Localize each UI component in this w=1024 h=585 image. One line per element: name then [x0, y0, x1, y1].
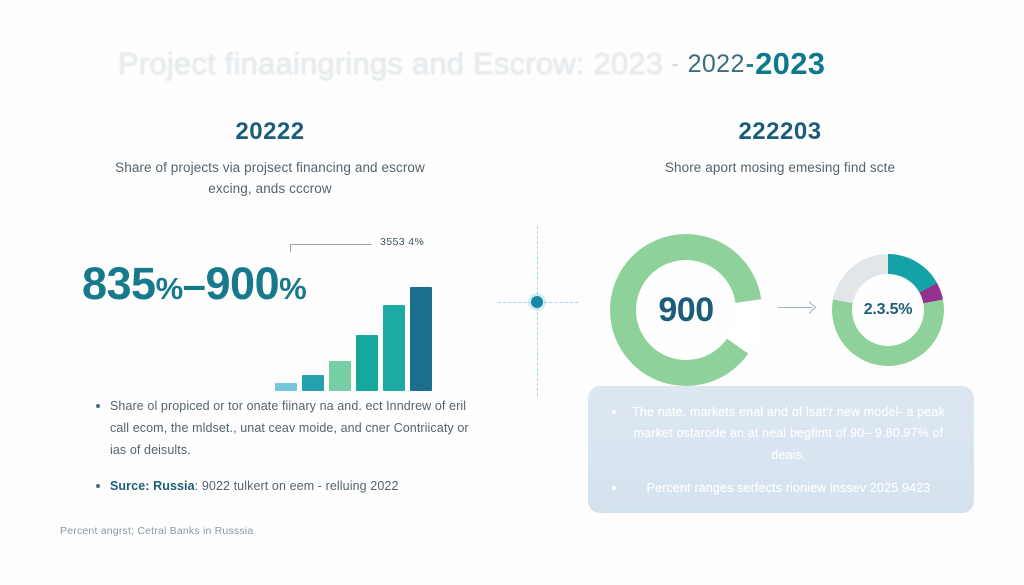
title-year-separator: -	[746, 50, 754, 79]
bar-4	[356, 335, 378, 391]
annotation-tick-icon	[290, 244, 291, 252]
title-ghost-text: Project finaaingrings and Escrow: 2023	[118, 46, 663, 82]
left-panel-subtitle: Share of projects via projsect financing…	[105, 158, 435, 200]
donut-large-center: 900	[636, 260, 736, 360]
slide-canvas: Project finaaingrings and Escrow: 2023 -…	[0, 0, 1024, 585]
bullet-source-label: Surce: Russia	[110, 479, 195, 493]
bar-chart: 3553 4%	[275, 261, 450, 391]
big-stat-low: 835	[82, 258, 156, 309]
right-panel-subtitle: Shore aport mosing emesing find scte	[600, 158, 960, 179]
bar-1	[275, 383, 297, 391]
left-big-statistic: 835%–900%	[82, 258, 306, 310]
big-stat-high: 900	[206, 258, 280, 309]
right-panel: 222203 Shore aport mosing emesing find s…	[570, 118, 990, 508]
annotation-leader-line	[290, 244, 372, 245]
big-stat-low-pct: %	[156, 271, 183, 306]
big-stat-dash: –	[183, 261, 206, 308]
bar-6	[410, 287, 432, 391]
slide-title: Project finaaingrings and Escrow: 2023 -…	[118, 38, 908, 90]
arrow-right-icon	[778, 301, 818, 315]
bar-chart-annotation: 3553 4%	[290, 233, 465, 255]
center-divider-dot-icon	[531, 296, 543, 308]
right-panel-body: 900 2.3.5%	[570, 226, 990, 406]
bar-5	[383, 305, 405, 391]
donut-small-center: 2.3.5%	[852, 274, 924, 346]
title-year-end: 2023	[755, 46, 825, 82]
right-panel-header: 222203 Shore aport mosing emesing find s…	[570, 118, 990, 179]
left-panel-body: 835%–900% 3553 4%	[60, 226, 480, 406]
callout-bullet: Percent ranges serfects rioniew inssev 2…	[610, 478, 952, 499]
center-divider-vertical	[537, 226, 540, 396]
footer-note: Percent angrst; Cetral Banks in Russsia	[60, 525, 253, 537]
bar-3	[329, 361, 351, 391]
bullet-source-text: : 9022 tulkert on eem - relluing 2022	[195, 479, 399, 493]
donut-small-value: 2.3.5%	[864, 301, 913, 319]
left-panel-header: 20222 Share of projects via projsect fin…	[60, 118, 480, 200]
donut-chart-large: 900	[610, 234, 762, 386]
annotation-label: 3553 4%	[380, 236, 424, 248]
list-item-source: Surce: Russia: 9022 tulkert on eem - rel…	[94, 476, 476, 498]
list-item: Share ol propiced or tor onate fiinary n…	[94, 396, 476, 462]
title-year-start: 2022	[688, 50, 745, 79]
left-bullet-list: Share ol propiced or tor onate fiinary n…	[94, 396, 476, 512]
title-dash: -	[671, 51, 678, 77]
right-panel-year: 222203	[570, 118, 990, 146]
left-panel: 20222 Share of projects via projsect fin…	[60, 118, 480, 508]
callout-bullet: The nate. markets enal and of lsat'r new…	[610, 402, 952, 466]
arrow-head	[803, 301, 816, 314]
donut-chart-small: 2.3.5%	[832, 254, 944, 366]
bar-2	[302, 375, 324, 391]
bullet-text: Share ol propiced or tor onate fiinary n…	[110, 399, 469, 457]
right-callout-box: The nate. markets enal and of lsat'r new…	[588, 386, 974, 513]
left-panel-year: 20222	[60, 118, 480, 146]
donut-large-value: 900	[658, 291, 713, 330]
